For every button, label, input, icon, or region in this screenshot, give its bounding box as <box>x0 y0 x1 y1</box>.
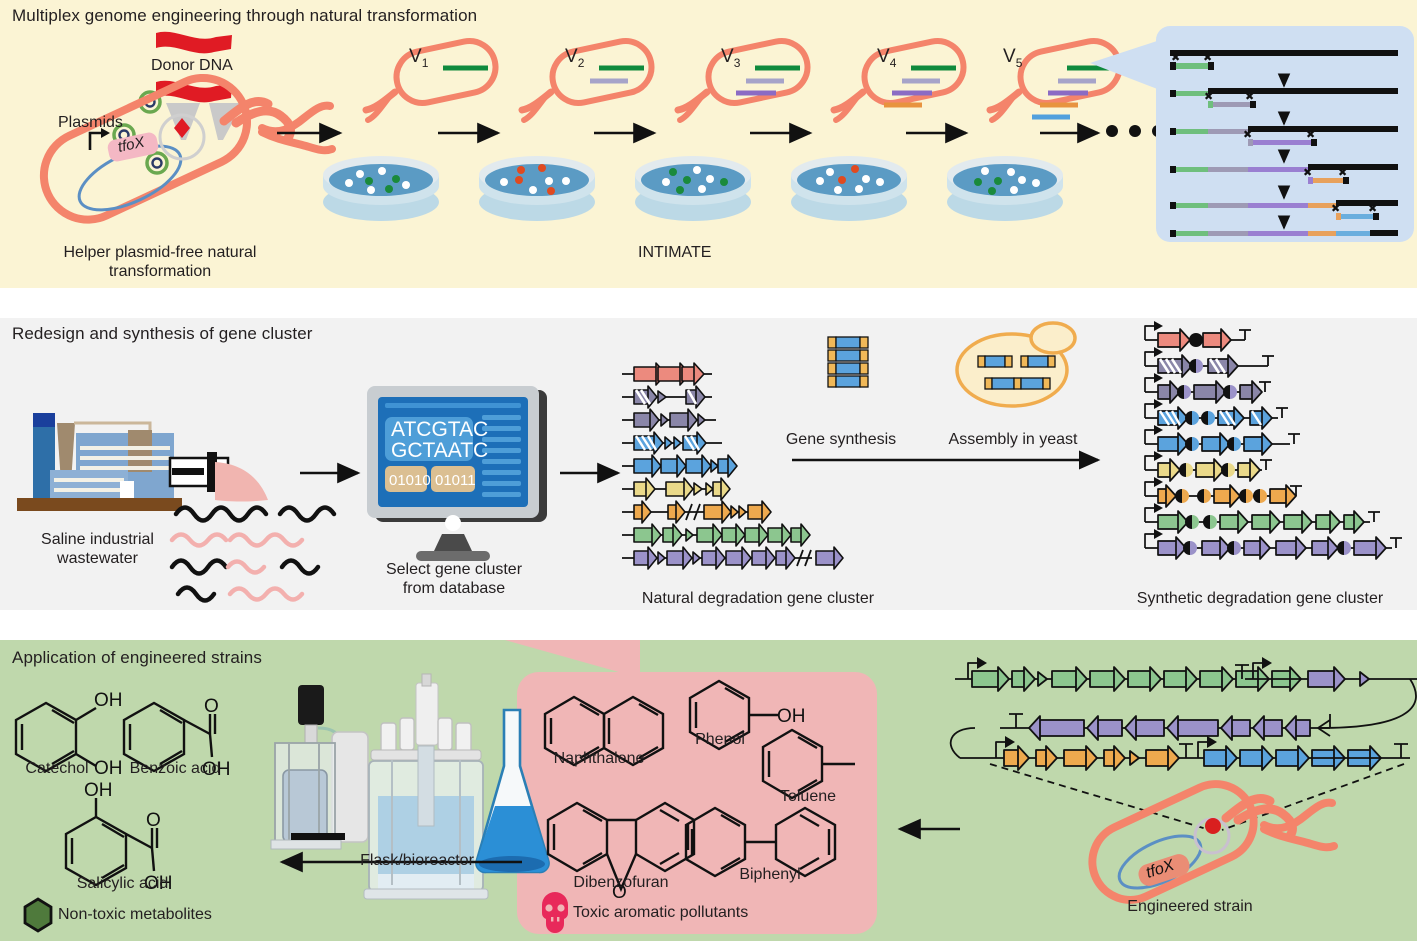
helper-plasmid-free-label: Helper plasmid-free natural transformati… <box>35 244 285 282</box>
catechol-oh-top: OH <box>94 690 123 711</box>
panel-application-engineered-strains: Application of engineered strains OH OH <box>0 640 1417 941</box>
petri-dish-v3 <box>635 156 751 221</box>
naphthalene-label: Naphthalene <box>534 750 664 769</box>
svg-text:✖: ✖ <box>1303 167 1312 179</box>
molecule-salicylic-acid <box>66 798 157 885</box>
insertion-pointer-lines <box>990 764 1404 830</box>
svg-text:ATCGTAC: ATCGTAC <box>391 418 488 441</box>
salicylic-acid-label: Salicylic acid <box>40 875 205 894</box>
toxic-pollutants-label: Toxic aromatic pollutants <box>573 904 748 923</box>
database-monitor-icon: ATCGTAC GCTAATC 01010 01011 <box>367 386 547 561</box>
engineered-operon-map <box>951 657 1417 770</box>
panel-multiplex-genome-engineering: Multiplex genome engineering through nat… <box>0 0 1417 288</box>
svg-text:✖: ✖ <box>1204 91 1213 103</box>
biphenyl-label: Biphenyl <box>712 866 828 885</box>
cycle-tag-v1: V1 <box>409 46 428 70</box>
callout-wedge-blue <box>1090 40 1160 90</box>
cycle-tag-v4: V4 <box>877 46 896 70</box>
flask-bioreactor-label: Flask/bioreactor <box>342 852 492 871</box>
petri-dish-v1 <box>323 156 439 221</box>
nontoxic-metabolites-label: Non-toxic metabolites <box>58 906 212 925</box>
engineered-strain-label: Engineered strain <box>1090 898 1290 917</box>
natural-cluster-label: Natural degradation gene cluster <box>610 590 906 609</box>
synthetic-cluster-label: Synthetic degradation gene cluster <box>1110 590 1410 609</box>
engineered-strain-icon: tfoX <box>1080 772 1334 913</box>
hexagon-icon <box>25 899 51 931</box>
petri-dish-v5 <box>947 156 1063 221</box>
saline-wastewater-label: Saline industrial wastewater <box>10 531 185 569</box>
intimate-cycle-group <box>323 36 1164 221</box>
panel-redesign-synthesis: Redesign and synthesis of gene cluster <box>0 318 1417 610</box>
natural-gene-clusters <box>622 363 843 569</box>
svg-text:01011: 01011 <box>435 472 476 489</box>
toluene-label: Toluene <box>768 788 848 807</box>
donor-dna-label: Donor DNA <box>151 57 233 74</box>
recombination-diagram: ✖✖ ✖✖ ✖✖ <box>1156 26 1414 242</box>
cycle-cell-v3 <box>678 36 812 120</box>
cycle-cell-v1 <box>366 36 500 120</box>
benzoic-acid-label: Benzoic acid <box>100 760 250 779</box>
svg-text:01010: 01010 <box>389 472 431 489</box>
plasmids-label: Plasmids <box>58 114 123 131</box>
svg-text:✖: ✖ <box>1243 129 1252 141</box>
bioreactor-small-icon <box>271 685 368 849</box>
gene-synthesis-label: Gene synthesis <box>782 431 900 450</box>
svg-text:✖: ✖ <box>1245 91 1254 103</box>
cycle-tag-v5: V5 <box>1003 46 1022 70</box>
ellipsis-dots-icon <box>1106 125 1164 137</box>
phenol-label: Phenol <box>683 731 757 750</box>
svg-text:GCTAATC: GCTAATC <box>391 439 488 462</box>
salicylic-oh-top: OH <box>84 780 113 801</box>
svg-text:✖: ✖ <box>1203 52 1212 64</box>
gene-synthesis-stack <box>828 337 868 387</box>
benzoic-o-label: O <box>204 696 219 717</box>
petri-dish-v2 <box>479 156 595 221</box>
svg-text:✖: ✖ <box>1171 52 1180 64</box>
cycle-tag-v3: V3 <box>721 46 740 70</box>
svg-text:✖: ✖ <box>1338 167 1347 179</box>
cycle-cell-v2 <box>522 36 656 120</box>
cycle-tag-v2: V2 <box>565 46 584 70</box>
panel-mid-graphics: ATCGTAC GCTAATC 01010 01011 <box>0 318 1417 610</box>
wastewater-waves-icon <box>172 508 334 601</box>
svg-text:✖: ✖ <box>1368 203 1377 215</box>
phenol-oh-label: OH <box>777 706 806 727</box>
dibenzofuran-label: Dibenzofuran <box>546 874 696 893</box>
select-gene-cluster-label: Select gene cluster from database <box>368 561 540 599</box>
svg-text:✖: ✖ <box>1306 129 1315 141</box>
salicylic-o-label: O <box>146 810 161 831</box>
petri-dish-v4 <box>791 156 907 221</box>
intimate-label: INTIMATE <box>638 244 711 263</box>
panel-bottom-graphics: OH OH O OH OH O OH <box>0 640 1417 941</box>
assembly-in-yeast-label: Assembly in yeast <box>938 431 1088 450</box>
cycle-cell-v4 <box>834 36 968 120</box>
yeast-cell-icon <box>957 323 1075 406</box>
synthetic-gene-clusters <box>1145 321 1402 559</box>
factory-icon <box>17 413 268 511</box>
svg-text:✖: ✖ <box>1331 203 1340 215</box>
